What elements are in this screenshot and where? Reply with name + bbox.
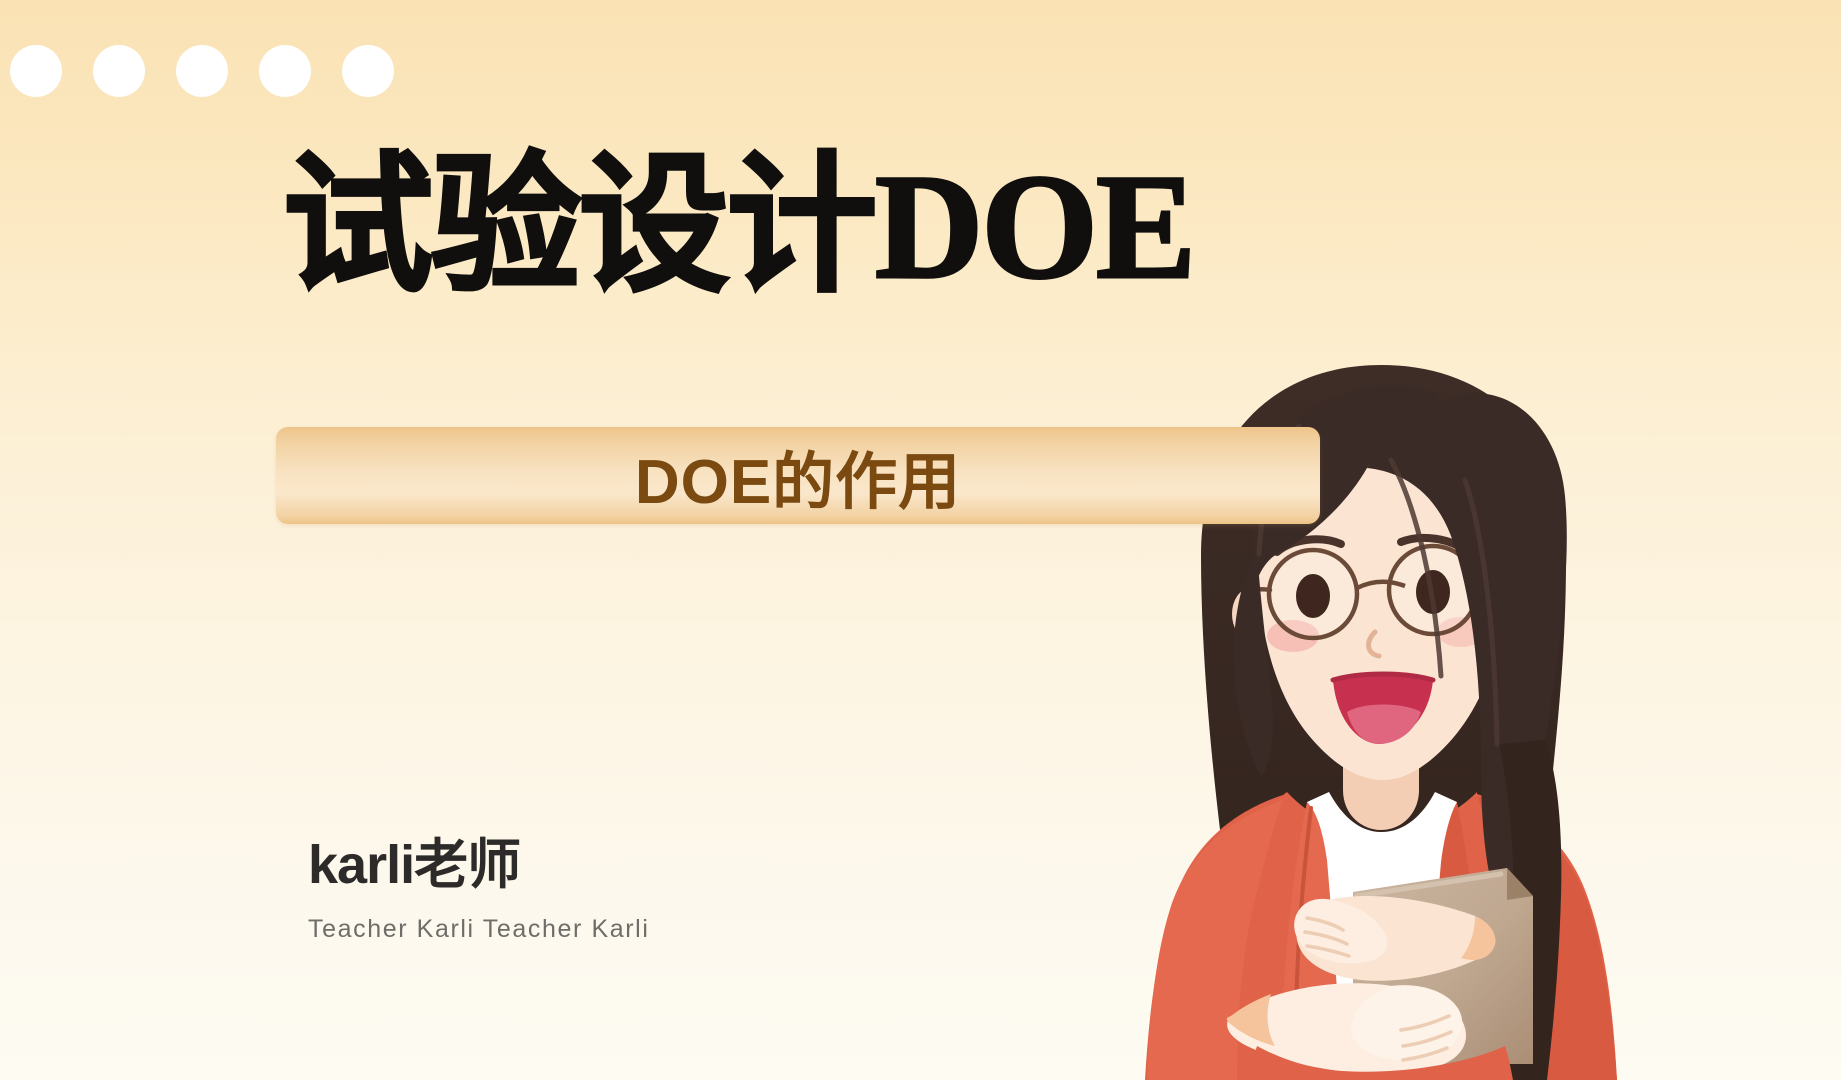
circle-dot-icon-5 bbox=[342, 45, 394, 97]
circle-dot-icon-3 bbox=[176, 45, 228, 97]
slide-canvas: 试验设计DOE DOE的作用 karli老师 Teacher Karli Tea… bbox=[0, 0, 1841, 1080]
author-signature: karli老师 Teacher Karli Teacher Karli bbox=[308, 836, 650, 944]
subtitle-text: DOE的作用 bbox=[635, 431, 961, 521]
subtitle-band: DOE的作用 bbox=[276, 427, 1320, 524]
circle-dot-icon-2 bbox=[93, 45, 145, 97]
author-name: karli老师 bbox=[308, 836, 650, 895]
eye-left bbox=[1296, 574, 1330, 618]
top-dots-decoration bbox=[10, 45, 394, 97]
page-title: 试验设计DOE bbox=[283, 152, 1194, 302]
author-tagline: Teacher Karli Teacher Karli bbox=[308, 915, 650, 944]
circle-dot-icon-4 bbox=[259, 45, 311, 97]
circle-dot-icon-1 bbox=[10, 45, 62, 97]
